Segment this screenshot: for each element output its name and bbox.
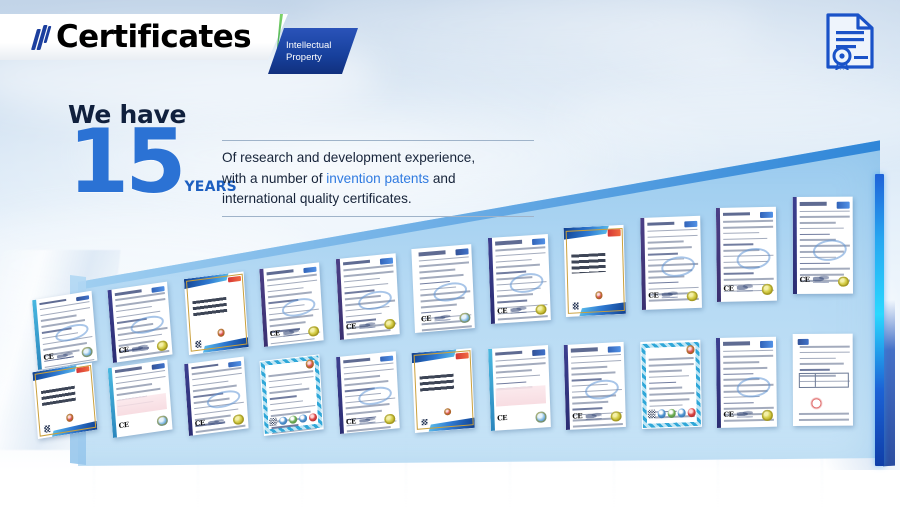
- slide-background: CECECECECECECECECECECECECECECE: [0, 0, 900, 508]
- cert-signature: [132, 344, 148, 352]
- certificate-gts-pink-2[interactable]: CE: [488, 345, 551, 431]
- cert-seal: [535, 304, 546, 315]
- cert-heading: [267, 269, 294, 275]
- years-number-row: 15 YEARS: [68, 123, 237, 201]
- cert-signature: [661, 291, 677, 299]
- cert-ce-mark: CE: [43, 352, 54, 363]
- cert-side-bar: [792, 197, 797, 294]
- cert-ce-mark: CE: [270, 329, 280, 339]
- invention-patents-highlight: invention patents: [326, 171, 429, 186]
- cert-ce-mark: CE: [648, 291, 658, 300]
- certificate-gts-plain-1[interactable]: CE: [412, 244, 476, 333]
- description-line-2-a: with a number of: [222, 171, 326, 186]
- description-line-2-b: and: [429, 171, 455, 186]
- headline-block: We have 15 YEARS: [68, 100, 237, 201]
- certificate-ce-doc-10[interactable]: CE: [564, 342, 627, 430]
- cert-logo: [836, 202, 849, 209]
- certificate-gold-framed-2[interactable]: [564, 225, 627, 317]
- description-line-2: with a number of invention patents and: [222, 169, 534, 190]
- cert-highlight-box: [495, 385, 545, 406]
- description-line-1: Of research and development experience,: [222, 148, 534, 169]
- cert-side-bar: [716, 207, 721, 301]
- certificate-ce-doc-3[interactable]: CE: [336, 253, 400, 340]
- cert-ce-mark: CE: [119, 344, 130, 354]
- cert-red-stamp: [809, 396, 822, 409]
- cert-badge-row: [647, 408, 695, 419]
- cert-logo: [760, 341, 773, 348]
- certificate-gold-framed-4[interactable]: [412, 348, 476, 433]
- cert-logo: [304, 267, 318, 274]
- cert-ce-mark: CE: [723, 283, 733, 292]
- cert-signature: [510, 306, 526, 314]
- cert-ce-mark: CE: [572, 412, 582, 422]
- certificate-ce-doc-4[interactable]: CE: [488, 234, 551, 324]
- cert-qr-code: [572, 302, 579, 309]
- cert-seal: [82, 346, 93, 358]
- certificate-cmc-gts[interactable]: CE: [32, 290, 98, 370]
- cert-logo: [380, 355, 393, 362]
- cert-logo: [532, 349, 545, 356]
- cert-side-bar: [336, 356, 344, 434]
- cert-logo: [684, 220, 697, 227]
- certificate-grid: CECECECECECECECECECECECECECECE: [0, 0, 900, 508]
- cert-qr-code: [44, 425, 51, 433]
- cert-qr-code: [421, 419, 428, 426]
- cert-heading: [343, 357, 370, 363]
- cert-signature: [434, 313, 450, 321]
- cert-side-bar: [488, 238, 495, 324]
- cert-heading: [419, 250, 446, 256]
- certificate-ce-doc-11[interactable]: CE: [716, 336, 777, 427]
- cert-text-lines: [269, 370, 316, 412]
- cert-heading: [723, 211, 750, 215]
- cert-heading: [647, 221, 674, 226]
- cert-table: [798, 372, 848, 387]
- cert-logo: [152, 285, 166, 292]
- cert-logo: [532, 239, 545, 246]
- cert-qr-code: [195, 341, 202, 348]
- board-right-shadow: [883, 300, 895, 467]
- cert-logo: [797, 339, 808, 346]
- description-line-3: international quality certificates.: [222, 189, 534, 210]
- cert-ce-mark: CE: [497, 413, 507, 423]
- description-block: Of research and development experience, …: [222, 140, 534, 217]
- certificate-ce-doc-1[interactable]: CE: [108, 281, 173, 362]
- cert-ce-mark: CE: [497, 306, 507, 316]
- cert-text-lines: [649, 357, 695, 402]
- cert-ce-mark: CE: [346, 416, 356, 426]
- certificate-ce-doc-6[interactable]: CE: [716, 206, 777, 301]
- certificate-gts-stamp-1[interactable]: [792, 334, 853, 427]
- cert-signature: [208, 418, 224, 426]
- cert-seal: [687, 291, 697, 302]
- cert-ce-mark: CE: [723, 409, 733, 418]
- cert-signature: [812, 275, 828, 283]
- cert-ce-mark: CE: [346, 321, 356, 331]
- cert-signature: [737, 410, 753, 418]
- cert-heading: [799, 202, 826, 206]
- cert-side-bar: [716, 338, 721, 428]
- cert-logo: [608, 347, 621, 354]
- cert-seal: [762, 410, 772, 420]
- cert-heading: [571, 348, 598, 353]
- cert-heading: [495, 351, 522, 356]
- cert-signature: [359, 416, 375, 424]
- page-title: Certificates: [56, 19, 251, 55]
- banner-subtitle-line2: Property: [286, 52, 356, 64]
- double-slash-icon: [34, 25, 49, 50]
- cert-ce-mark: CE: [421, 313, 431, 323]
- certificate-ce-doc-2[interactable]: CE: [260, 262, 325, 347]
- cert-heading: [723, 342, 750, 346]
- cert-logo: [608, 229, 621, 236]
- cert-heading: [343, 260, 370, 266]
- certificate-gts-pink-1[interactable]: CE: [108, 360, 173, 438]
- cert-heading: [191, 364, 218, 370]
- cert-heading: [495, 240, 522, 245]
- cert-seal: [460, 311, 471, 322]
- cert-seal: [308, 325, 319, 336]
- cert-heading: [40, 298, 67, 305]
- board-right-accent-bar: [875, 174, 884, 466]
- cert-emblem: [686, 345, 695, 354]
- cert-seal: [838, 277, 848, 287]
- certificate-ornate-cn-1[interactable]: [260, 354, 325, 435]
- cert-side-bar: [640, 218, 646, 310]
- cert-text-lines: [799, 346, 849, 371]
- cert-side-bar: [488, 349, 495, 432]
- cert-seal: [384, 318, 395, 329]
- certificate-document-icon: [824, 12, 876, 75]
- cert-footer-lines: [799, 413, 849, 423]
- cert-signature: [359, 321, 375, 329]
- cert-heading: [115, 288, 142, 295]
- banner-subtitle-line1: Intellectual: [286, 40, 356, 52]
- certificate-gold-framed-1[interactable]: [184, 272, 249, 355]
- years-number: 15: [68, 123, 182, 201]
- certificate-ce-doc-8[interactable]: CE: [184, 357, 249, 437]
- cert-text-block: [420, 374, 454, 394]
- certificate-ce-doc-7[interactable]: CE: [792, 197, 853, 294]
- cert-signature: [737, 283, 753, 291]
- cert-seal: [762, 284, 772, 294]
- cert-signature: [586, 412, 602, 420]
- cert-seal: [384, 413, 395, 424]
- cert-seal: [157, 415, 168, 427]
- cert-logo: [456, 352, 469, 359]
- cert-ce-mark: CE: [799, 275, 809, 284]
- banner-subtitle: Intellectual Property: [286, 40, 356, 63]
- cert-ce-mark: CE: [194, 418, 204, 428]
- cert-side-bar: [564, 345, 571, 430]
- cert-logo: [380, 257, 394, 264]
- cert-text-block: [572, 253, 606, 274]
- cert-logo: [456, 248, 469, 255]
- cert-text-lines: [495, 357, 545, 388]
- cert-seal: [611, 411, 622, 422]
- certificate-ce-doc-9[interactable]: CE: [336, 351, 400, 434]
- certificate-ce-doc-5[interactable]: CE: [640, 216, 702, 310]
- cert-logo: [760, 211, 773, 218]
- certificate-gold-framed-3[interactable]: [32, 363, 97, 440]
- cert-ce-mark: CE: [119, 420, 130, 430]
- cert-seal: [535, 412, 546, 423]
- certificate-ornate-cn-2[interactable]: [640, 339, 702, 429]
